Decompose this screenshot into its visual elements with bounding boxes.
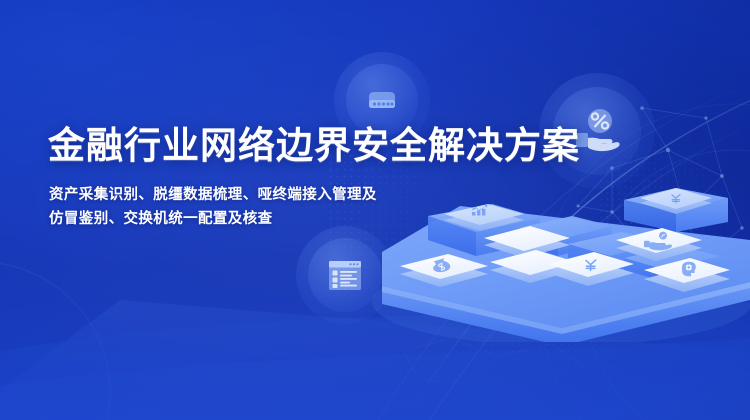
isometric-platform <box>372 182 750 342</box>
subtitle-line-2: 仿冒鉴别、交换机统一配置及核查 <box>49 207 377 231</box>
page-title: 金融行业网络边界安全解决方案 <box>48 124 580 168</box>
subtitle-line-1: 资产采集识别、脱缰数据梳理、哑终端接入管理及 <box>49 183 377 207</box>
server-icon <box>360 78 404 122</box>
document-list-icon <box>322 252 368 298</box>
page-subtitle: 资产采集识别、脱缰数据梳理、哑终端接入管理及 仿冒鉴别、交换机统一配置及核查 <box>49 183 377 231</box>
banner-root: 金融行业网络边界安全解决方案 资产采集识别、脱缰数据梳理、哑终端接入管理及 仿冒… <box>0 0 750 420</box>
